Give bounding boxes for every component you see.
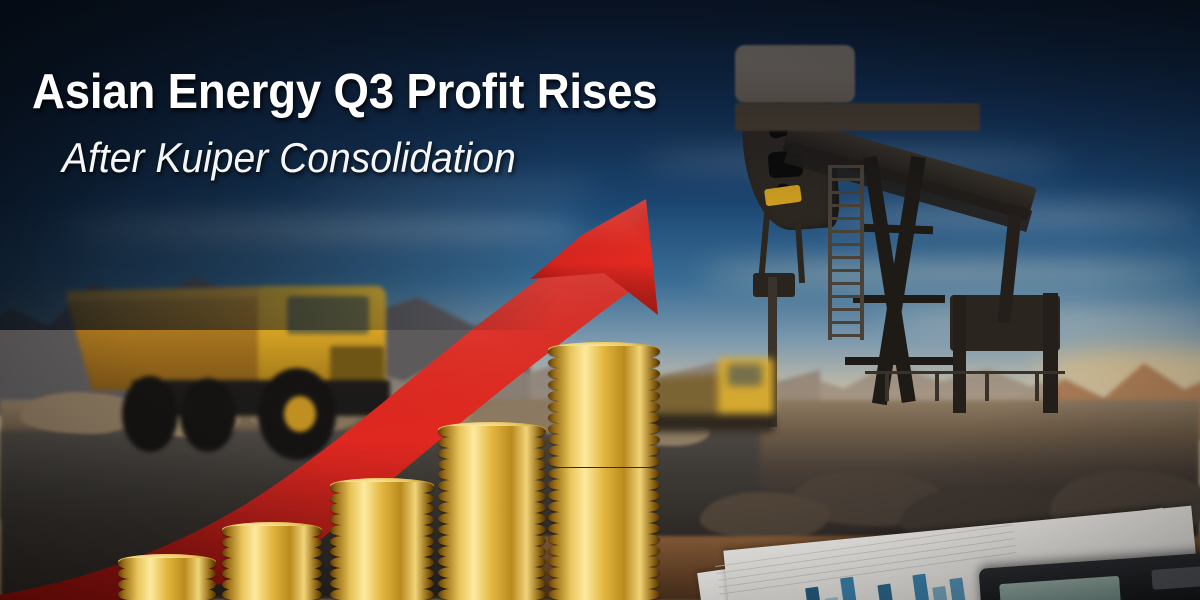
coin (438, 556, 546, 567)
coin (548, 445, 660, 456)
coin (330, 536, 434, 547)
coin-stack-5 (548, 342, 660, 600)
coin (222, 547, 322, 558)
coin (548, 490, 660, 501)
coin (438, 469, 546, 480)
coin (548, 512, 660, 523)
coin (330, 546, 434, 557)
coin (548, 412, 660, 423)
coin-stack-3 (330, 478, 434, 600)
coin (548, 501, 660, 512)
coin (548, 346, 660, 357)
coin (330, 568, 434, 579)
coin (222, 589, 322, 600)
coin (548, 357, 660, 368)
coin (548, 545, 660, 556)
coin (222, 568, 322, 579)
coin (330, 578, 434, 589)
coin (548, 578, 660, 589)
coin (548, 468, 660, 479)
coin (330, 557, 434, 568)
coin-stack-4 (438, 422, 546, 600)
coin (438, 589, 546, 600)
coin (330, 589, 434, 600)
coin (330, 503, 434, 514)
coin (548, 368, 660, 379)
coin (548, 456, 660, 467)
news-banner: Asian Energy Q3 Profit Rises After Kuipe… (0, 0, 1200, 600)
coin (548, 534, 660, 545)
coin (548, 523, 660, 534)
coin (548, 567, 660, 578)
coin (438, 426, 546, 437)
coin (438, 480, 546, 491)
page-subtitle: After Kuiper Consolidation (62, 134, 741, 182)
headline-block: Asian Energy Q3 Profit Rises After Kuipe… (32, 64, 792, 182)
coin (438, 524, 546, 535)
coin (438, 437, 546, 448)
coin (330, 525, 434, 536)
coin (548, 379, 660, 390)
coin (548, 423, 660, 434)
coin (548, 401, 660, 412)
coin (438, 546, 546, 557)
coin (548, 479, 660, 490)
coin (438, 535, 546, 546)
coin (438, 491, 546, 502)
coin (548, 589, 660, 600)
coin (118, 558, 216, 569)
coin-stack-1 (118, 554, 216, 600)
coin (330, 514, 434, 525)
coin (548, 390, 660, 401)
coin (118, 568, 216, 579)
coin (438, 513, 546, 524)
coin (438, 459, 546, 470)
coin (548, 556, 660, 567)
coin (438, 448, 546, 459)
coin (438, 502, 546, 513)
coin (330, 482, 434, 493)
coin (222, 537, 322, 548)
coin (438, 567, 546, 578)
page-title: Asian Energy Q3 Profit Rises (32, 64, 739, 120)
coin (548, 434, 660, 445)
coin (222, 579, 322, 590)
coin (118, 589, 216, 600)
coin (222, 558, 322, 569)
coin (330, 493, 434, 504)
coin-stack-2 (222, 522, 322, 600)
coin (222, 526, 322, 537)
coin (438, 578, 546, 589)
